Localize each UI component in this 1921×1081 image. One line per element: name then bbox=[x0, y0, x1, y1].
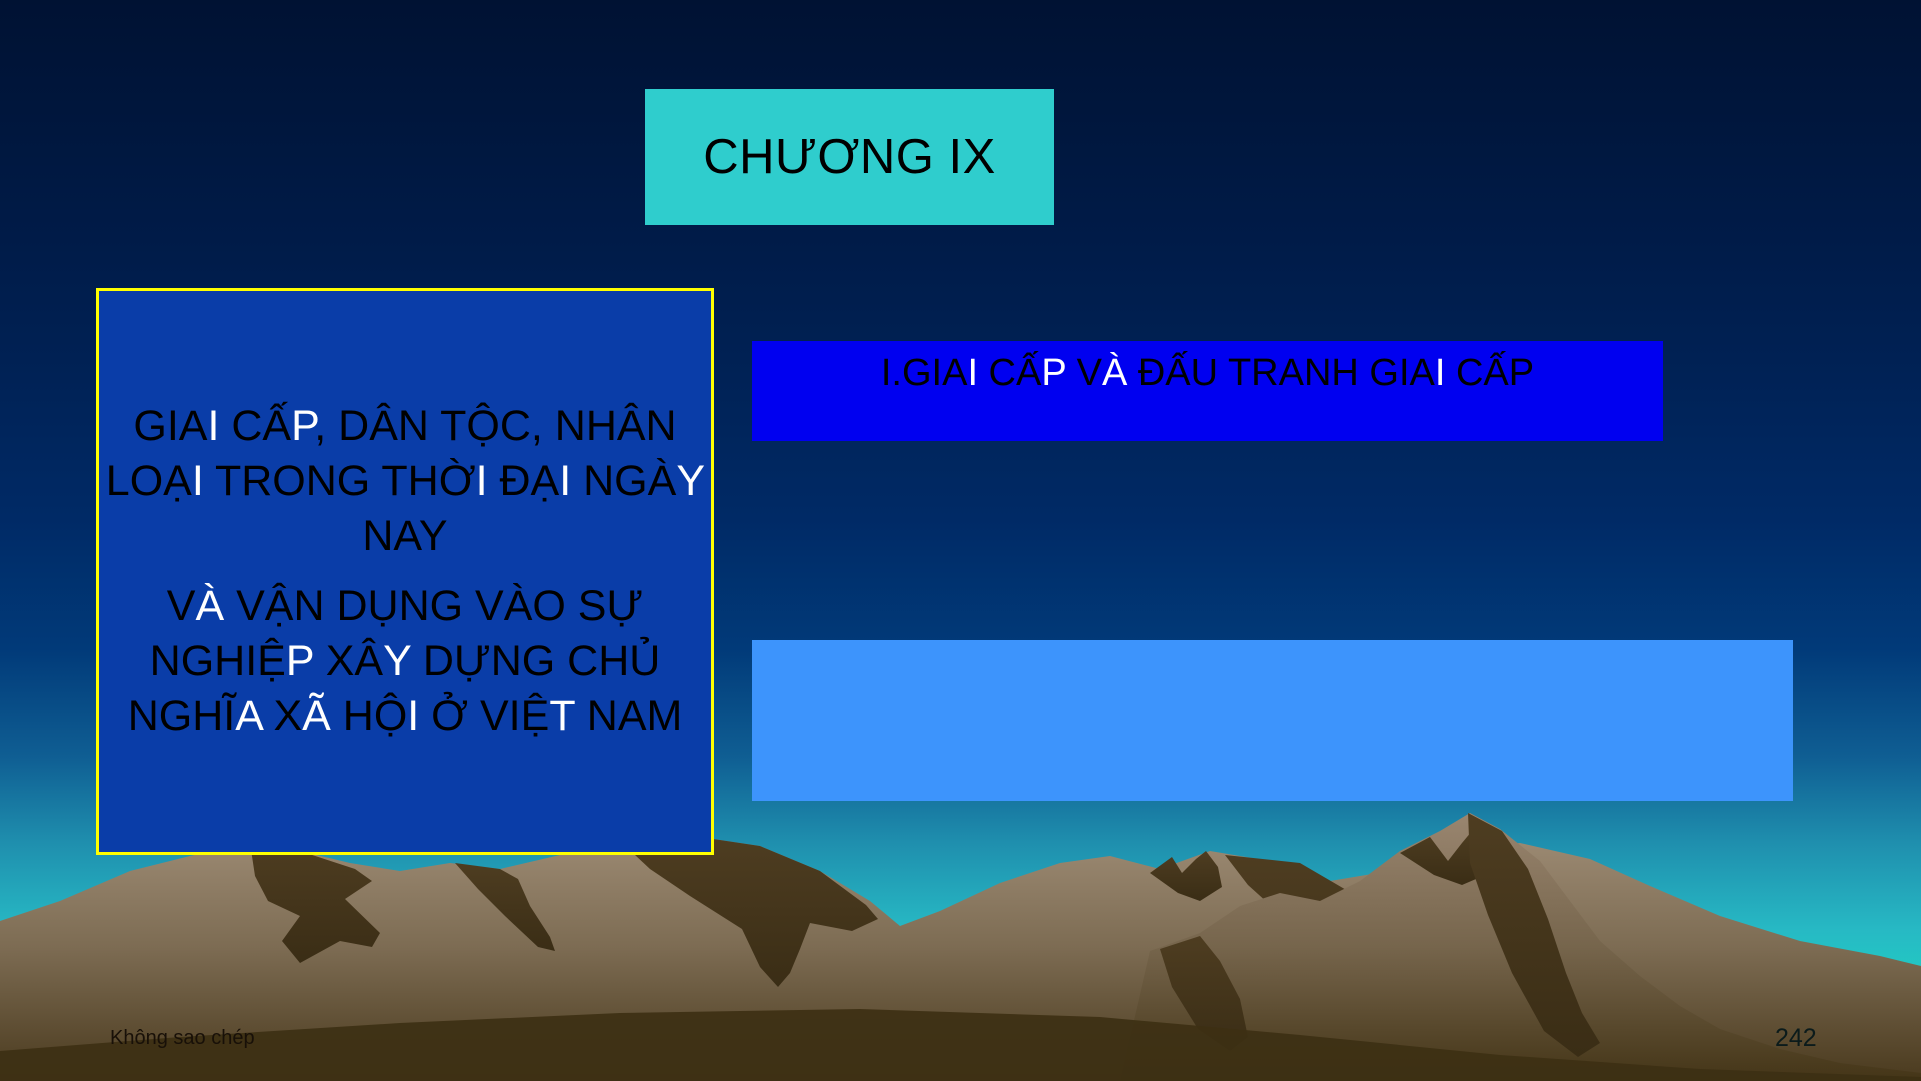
mountain-foreground-dune bbox=[0, 1009, 1921, 1081]
presentation-slide: CHƯƠNG IX GIAI CẤP, DÂN TỘC, NHÂN LOẠI T… bbox=[0, 0, 1921, 1081]
section-heading-bar: I.GIAI CẤP VÀ ĐẤU TRANH GIAI CẤP bbox=[752, 341, 1663, 441]
content-placeholder-box bbox=[752, 640, 1793, 801]
footer-note: Không sao chép bbox=[110, 1028, 255, 1048]
mountain-shadow-a bbox=[250, 843, 380, 963]
mountain-shadow-d bbox=[1150, 851, 1222, 901]
mountain-shadow-g bbox=[1400, 831, 1490, 885]
mountain-ridge-left bbox=[0, 837, 1921, 1081]
mountain-shadow-c bbox=[620, 837, 878, 987]
mountain-shadow-e bbox=[1225, 855, 1420, 1033]
slide-title-text: CHƯƠNG IX bbox=[703, 133, 996, 182]
chapter-title-box: GIAI CẤP, DÂN TỘC, NHÂN LOẠI TRONG THỜI … bbox=[96, 288, 714, 855]
page-number: 242 bbox=[1775, 1026, 1817, 1051]
section-heading-text: I.GIAI CẤP VÀ ĐẤU TRANH GIAI CẤP bbox=[752, 341, 1663, 394]
chapter-title-line-2: VÀ VẬN DỤNG VÀO SỰ NGHIỆP XÂY DỰNG CHỦ N… bbox=[99, 579, 711, 744]
mountain-shadow-b bbox=[455, 863, 555, 951]
slide-title-box: CHƯƠNG IX bbox=[645, 89, 1054, 225]
chapter-title-line-1: GIAI CẤP, DÂN TỘC, NHÂN LOẠI TRONG THỜI … bbox=[99, 399, 711, 564]
mountain-shadow-f bbox=[1160, 936, 1248, 1051]
mountain-shadow-h bbox=[1468, 813, 1600, 1057]
